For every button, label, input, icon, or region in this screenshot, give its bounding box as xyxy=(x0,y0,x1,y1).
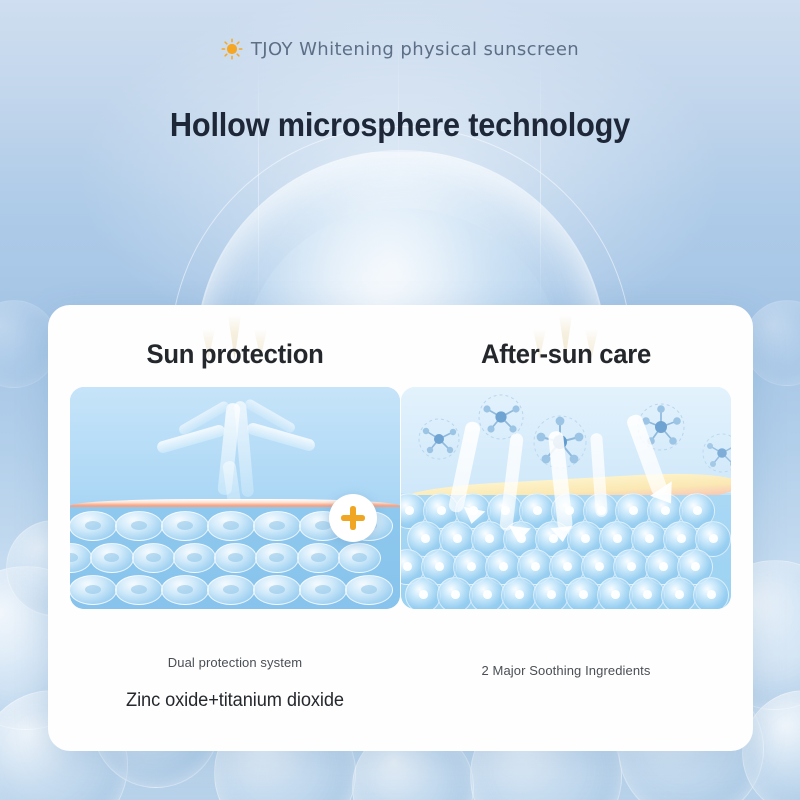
microsphere xyxy=(207,575,255,605)
microsphere xyxy=(115,511,163,541)
feature-card: Sun protection xyxy=(48,305,753,751)
microsphere xyxy=(253,511,301,541)
microsphere xyxy=(70,543,92,573)
microsphere xyxy=(469,577,505,609)
poster-canvas: TJOY Whitening physical sunscreen Hollow… xyxy=(0,0,800,800)
light-streak xyxy=(258,60,259,310)
plus-icon xyxy=(338,503,368,533)
light-streak xyxy=(540,60,541,310)
microsphere xyxy=(115,575,163,605)
brand-name: TJOY Whitening physical sunscreen xyxy=(251,39,579,60)
microsphere xyxy=(345,575,393,605)
illustration-after-sun-care xyxy=(401,387,731,609)
panel-heading-sun-protection: Sun protection xyxy=(78,339,392,370)
sun-icon xyxy=(221,38,243,60)
molecule-icon xyxy=(699,431,731,475)
caption-active-ingredients: Zinc oxide+titanium dioxide xyxy=(77,690,394,712)
microsphere xyxy=(629,577,665,609)
microsphere xyxy=(565,577,601,609)
absorption-arrow-head xyxy=(550,526,573,543)
microsphere xyxy=(253,575,301,605)
microsphere-row xyxy=(407,577,727,609)
microsphere xyxy=(70,575,117,605)
microsphere-row xyxy=(70,543,380,573)
microsphere xyxy=(90,543,133,573)
caption-soothing-ingredients: 2 Major Soothing Ingredients xyxy=(401,663,731,678)
microsphere xyxy=(173,543,216,573)
microsphere xyxy=(214,543,257,573)
microsphere xyxy=(297,543,340,573)
microsphere xyxy=(661,577,697,609)
microsphere xyxy=(132,543,175,573)
microsphere xyxy=(405,577,441,609)
microsphere xyxy=(161,575,209,605)
panel-heading-after-sun-care: After-sun care xyxy=(409,339,723,370)
caption-dual-protection: Dual protection system xyxy=(70,655,400,670)
microsphere xyxy=(597,577,633,609)
brand-header: TJOY Whitening physical sunscreen xyxy=(0,38,800,60)
plus-badge xyxy=(329,494,377,542)
microsphere xyxy=(533,577,569,609)
molecule-icon xyxy=(415,417,463,461)
microsphere xyxy=(338,543,381,573)
microsphere xyxy=(501,577,537,609)
absorption-arrow-head xyxy=(507,526,531,544)
microsphere xyxy=(70,511,117,541)
microsphere xyxy=(299,575,347,605)
page-title: Hollow microsphere technology xyxy=(28,106,772,144)
microsphere xyxy=(207,511,255,541)
microsphere-row xyxy=(70,575,400,605)
microsphere xyxy=(161,511,209,541)
microsphere xyxy=(255,543,298,573)
panel-after-sun-care: After-sun care xyxy=(401,305,731,751)
microsphere xyxy=(693,577,729,609)
microsphere xyxy=(437,577,473,609)
